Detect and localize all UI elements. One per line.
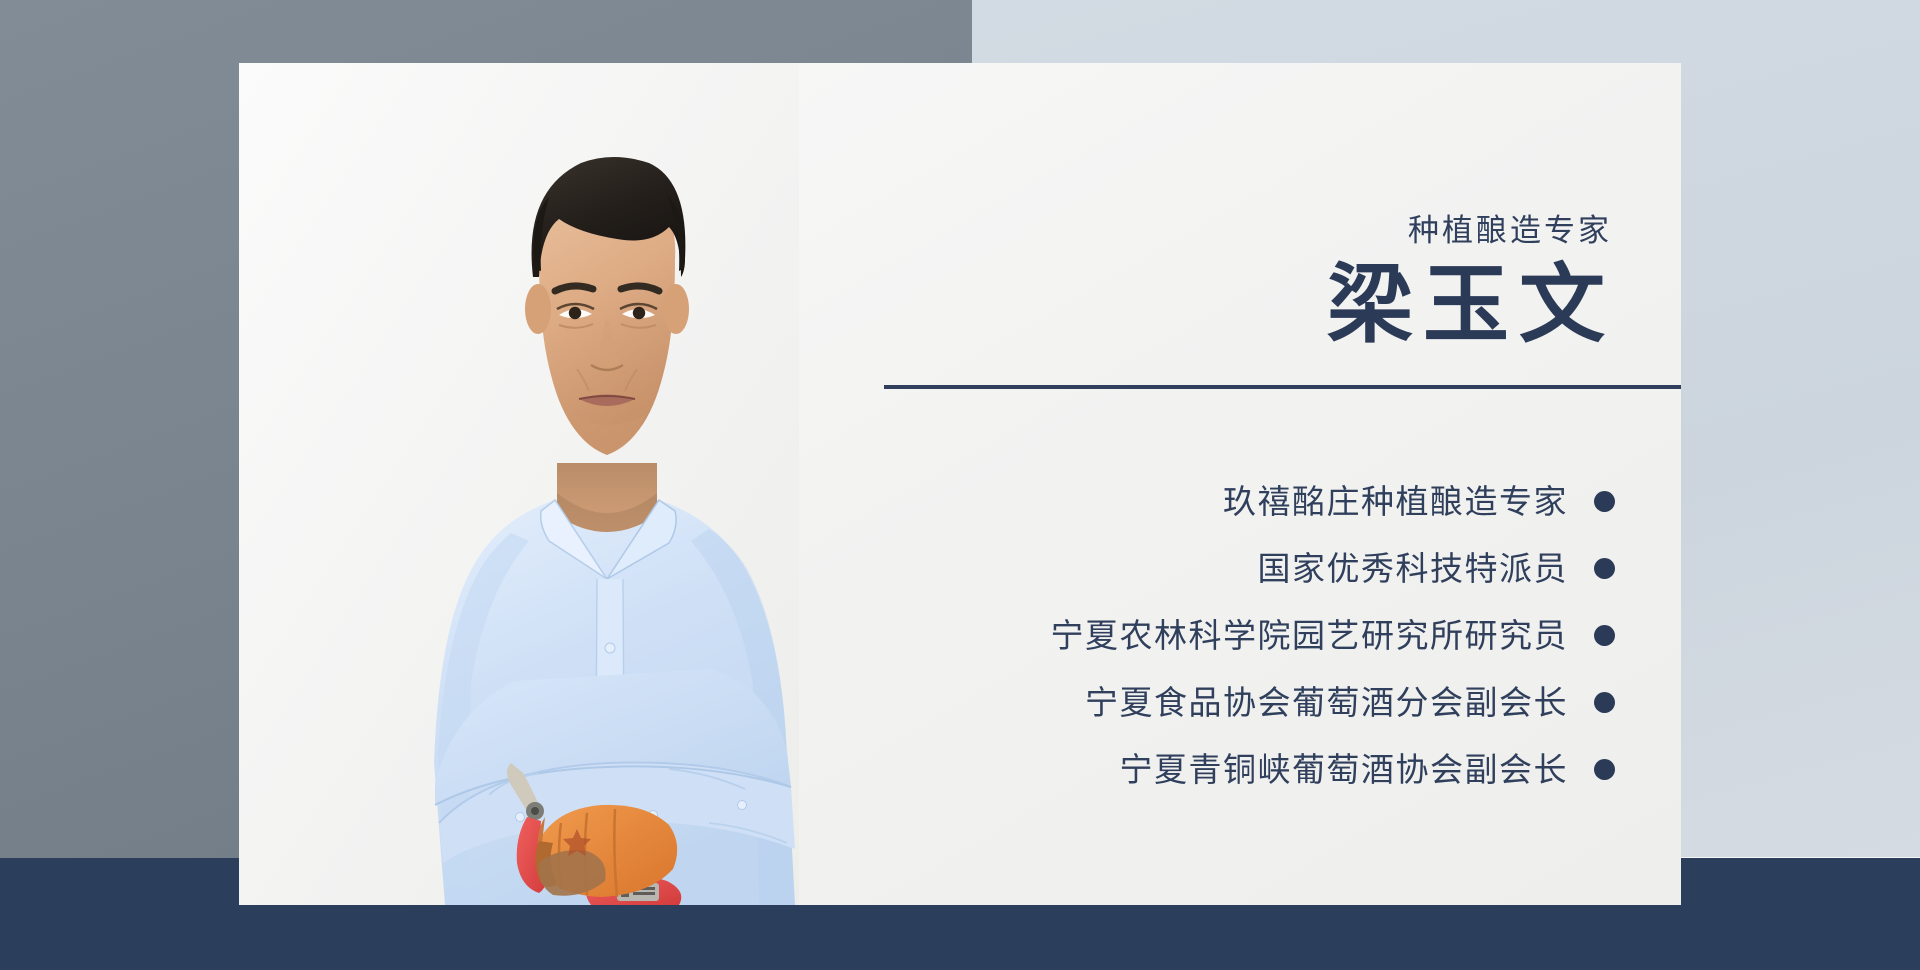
list-item: 玖禧酩庄种植酿造专家 [1223, 468, 1615, 535]
bullet-dot-icon [1594, 692, 1615, 713]
credential-text: 宁夏青铜峡葡萄酒协会副会长 [1120, 753, 1569, 786]
list-item: 宁夏农林科学院园艺研究所研究员 [1051, 602, 1616, 669]
bullet-dot-icon [1594, 491, 1615, 512]
list-item: 国家优秀科技特派员 [1258, 535, 1616, 602]
bullet-dot-icon [1594, 625, 1615, 646]
credentials-list: 玖禧酩庄种植酿造专家 国家优秀科技特派员 宁夏农林科学院园艺研究所研究员 宁夏食… [1051, 468, 1616, 803]
portrait-photo [239, 63, 799, 905]
list-item: 宁夏食品协会葡萄酒分会副会长 [1085, 669, 1615, 736]
list-item: 宁夏青铜峡葡萄酒协会副会长 [1120, 736, 1616, 803]
profile-subtitle: 种植酿造专家 [1408, 215, 1612, 246]
credential-text: 国家优秀科技特派员 [1258, 552, 1569, 585]
section-divider [884, 385, 1681, 389]
credential-text: 玖禧酩庄种植酿造专家 [1223, 485, 1568, 518]
poster-stage: 种植酿造专家 梁玉文 玖禧酩庄种植酿造专家 国家优秀科技特派员 宁夏农林科学院园… [0, 0, 1920, 970]
bullet-dot-icon [1594, 558, 1615, 579]
credential-text: 宁夏食品协会葡萄酒分会副会长 [1085, 686, 1568, 719]
credential-text: 宁夏农林科学院园艺研究所研究员 [1051, 619, 1569, 652]
profile-content: 种植酿造专家 梁玉文 玖禧酩庄种植酿造专家 国家优秀科技特派员 宁夏农林科学院园… [899, 63, 1681, 905]
profile-name: 梁玉文 [1327, 257, 1615, 353]
bullet-dot-icon [1594, 759, 1615, 780]
profile-card: 种植酿造专家 梁玉文 玖禧酩庄种植酿造专家 国家优秀科技特派员 宁夏农林科学院园… [239, 63, 1681, 905]
